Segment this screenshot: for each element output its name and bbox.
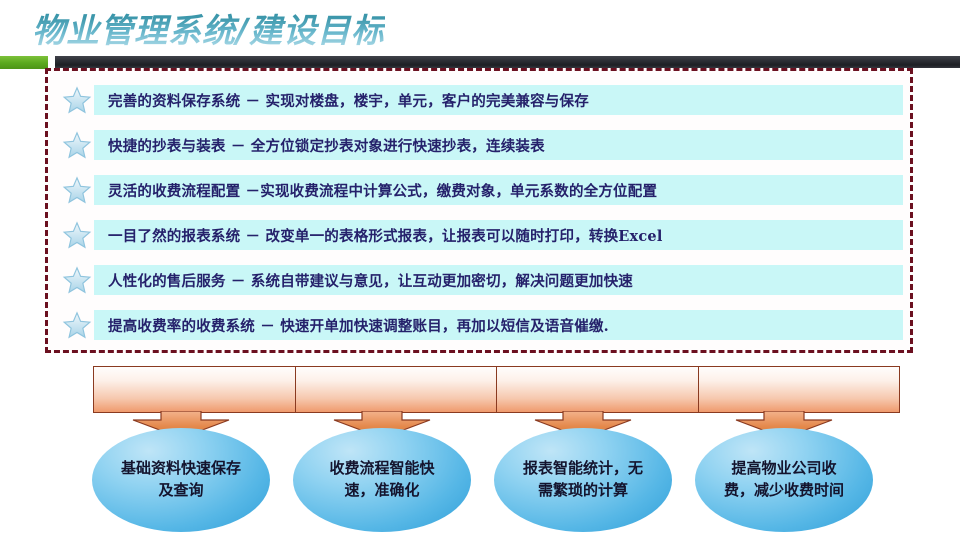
- feature-label: 一目了然的报表系统 － 改变单一的表格形式报表，让报表可以随时打印，转换Exce…: [108, 225, 663, 246]
- feature-text-background: 人性化的售后服务 － 系统自带建议与意见，让互动更加密切，解决问题更加快速: [94, 265, 903, 295]
- outcome-box: [295, 366, 498, 413]
- feature-label: 完善的资料保存系统 － 实现对楼盘，楼宇，单元，客户的完美兼容与保存: [108, 90, 589, 111]
- outcome-ellipse: 收费流程智能快速，准确化: [293, 428, 471, 532]
- star-icon: [60, 265, 94, 295]
- feature-text-background: 完善的资料保存系统 － 实现对楼盘，楼宇，单元，客户的完美兼容与保存: [94, 85, 903, 115]
- outcome-box: [496, 366, 699, 413]
- star-icon: [60, 175, 94, 205]
- header-accent-green: [0, 56, 48, 69]
- outcome-label: 报表智能统计，无需繁琐的计算: [516, 458, 650, 502]
- feature-label: 灵活的收费流程配置 －实现收费流程中计算公式，缴费对象，单元系数的全方位配置: [108, 180, 657, 201]
- outcome-label: 基础资料快速保存及查询: [114, 458, 248, 502]
- feature-text-background: 灵活的收费流程配置 －实现收费流程中计算公式，缴费对象，单元系数的全方位配置: [94, 175, 903, 205]
- slide-canvas: 物业管理系统/建设目标 完善的资料保存系统 － 实现对楼盘，楼宇，单元，客户的完…: [0, 0, 960, 540]
- header-accent-bar: [55, 56, 960, 68]
- feature-row: 提高收费率的收费系统 － 快速开单加快速调整账目，再加以短信及语音催缴.: [60, 310, 903, 340]
- star-icon: [60, 310, 94, 340]
- feature-row: 灵活的收费流程配置 －实现收费流程中计算公式，缴费对象，单元系数的全方位配置: [60, 175, 903, 205]
- feature-text-background: 提高收费率的收费系统 － 快速开单加快速调整账目，再加以短信及语音催缴.: [94, 310, 903, 340]
- star-icon: [60, 85, 94, 115]
- outcome-ellipse: 提高物业公司收费，减少收费时间: [695, 428, 873, 532]
- feature-text-background: 快捷的抄表与装表 － 全方位锁定抄表对象进行快速抄表，连续装表: [94, 130, 903, 160]
- feature-label: 人性化的售后服务 － 系统自带建议与意见，让互动更加密切，解决问题更加快速: [108, 270, 633, 291]
- star-icon: [60, 220, 94, 250]
- feature-row: 快捷的抄表与装表 － 全方位锁定抄表对象进行快速抄表，连续装表: [60, 130, 903, 160]
- outcome-boxes-row: [93, 366, 899, 413]
- outcome-box: [698, 366, 901, 413]
- page-title: 物业管理系统/建设目标: [32, 4, 385, 52]
- feature-row: 人性化的售后服务 － 系统自带建议与意见，让互动更加密切，解决问题更加快速: [60, 265, 903, 295]
- star-icon: [60, 130, 94, 160]
- feature-row: 一目了然的报表系统 － 改变单一的表格形式报表，让报表可以随时打印，转换Exce…: [60, 220, 903, 250]
- feature-label: 快捷的抄表与装表 － 全方位锁定抄表对象进行快速抄表，连续装表: [108, 135, 545, 156]
- outcome-box: [93, 366, 296, 413]
- outcome-label: 收费流程智能快速，准确化: [315, 458, 449, 502]
- outcome-ellipse: 报表智能统计，无需繁琐的计算: [494, 428, 672, 532]
- features-panel: 完善的资料保存系统 － 实现对楼盘，楼宇，单元，客户的完美兼容与保存 快捷的抄表…: [45, 68, 913, 353]
- feature-row: 完善的资料保存系统 － 实现对楼盘，楼宇，单元，客户的完美兼容与保存: [60, 85, 903, 115]
- outcome-label: 提高物业公司收费，减少收费时间: [717, 458, 851, 502]
- outcome-ellipse: 基础资料快速保存及查询: [92, 428, 270, 532]
- feature-text-background: 一目了然的报表系统 － 改变单一的表格形式报表，让报表可以随时打印，转换Exce…: [94, 220, 903, 250]
- feature-label: 提高收费率的收费系统 － 快速开单加快速调整账目，再加以短信及语音催缴.: [108, 315, 609, 336]
